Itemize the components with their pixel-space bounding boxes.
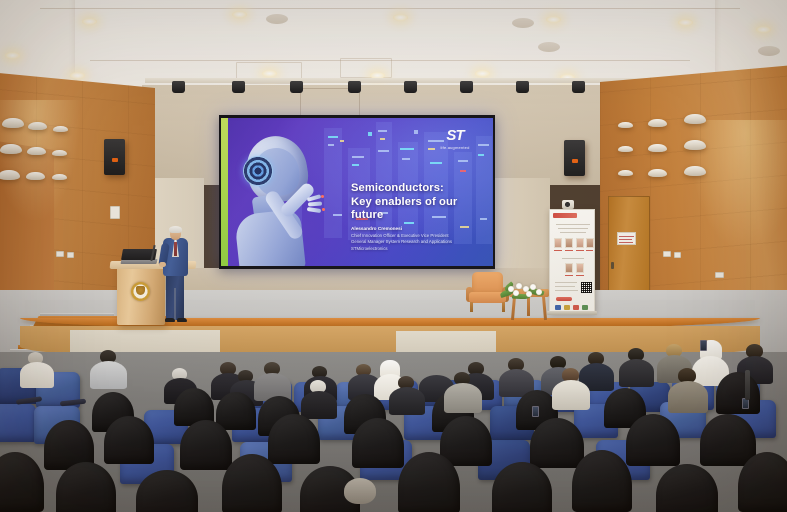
jbl-speaker <box>564 140 585 176</box>
track-spotlight <box>460 81 473 93</box>
slide-speaker-name: Alessandro Cremonesi <box>351 226 486 233</box>
wall-sconce <box>27 147 46 155</box>
wall-sconce <box>684 140 706 150</box>
ceiling-vent <box>538 42 560 52</box>
ceiling-downlight <box>232 11 247 18</box>
banner-speaker-photo <box>565 238 573 248</box>
wall-sconce <box>2 118 24 128</box>
wall-sconce <box>648 119 667 127</box>
track-spotlight <box>572 81 585 93</box>
wall-sconce <box>684 166 706 176</box>
slide-surface: Semiconductors: Key enablers of our futu… <box>221 118 493 266</box>
wall-sconce <box>618 146 633 152</box>
audience-member <box>626 414 680 466</box>
banner-speaker-photo <box>576 238 584 248</box>
banner-sponsor-logo <box>582 305 588 310</box>
lighting-track <box>145 78 645 83</box>
ceiling-downlight <box>5 52 20 59</box>
audience-seat <box>0 404 36 442</box>
ceiling-downlight <box>262 70 277 77</box>
banner-speaker-photo <box>586 238 594 248</box>
audience-member <box>216 392 256 430</box>
slide-speaker-company: STMicroelectronics <box>351 246 486 253</box>
slide-title: Semiconductors: Key enablers of our futu… <box>351 182 491 223</box>
ceiling-downlight <box>678 19 693 26</box>
banner-speaker-photo <box>565 263 573 273</box>
jbl-speaker <box>104 139 125 175</box>
smartphone <box>700 340 707 351</box>
audience-member <box>180 420 232 470</box>
banner-qr-code <box>581 282 592 293</box>
ceiling-downlight <box>393 14 408 21</box>
wall-sconce <box>0 170 20 180</box>
ceiling-downlight <box>70 72 85 79</box>
banner-speaker-photo <box>554 238 562 248</box>
event-rollup-banner <box>549 209 595 313</box>
st-logo: ST life.augmented <box>427 127 483 153</box>
banner-header-bar <box>553 213 577 218</box>
st-logo-mark: ST <box>427 127 483 144</box>
lectern-crest-emblem <box>131 282 150 301</box>
ceiling-vent <box>512 18 534 28</box>
flower-arrangement <box>498 280 548 302</box>
ceiling-downlight <box>475 70 490 77</box>
audience-member <box>268 414 320 464</box>
ceiling-downlight <box>82 18 97 25</box>
ceiling-downlight <box>756 26 771 33</box>
slide-title-line2: Key enablers of our future <box>351 196 491 223</box>
slide-title-line1: Semiconductors: <box>351 182 491 196</box>
banner-speaker-photo <box>576 263 584 273</box>
ceiling-vent <box>266 14 288 24</box>
banner-sponsor-logo <box>555 305 561 310</box>
ceiling-downlight <box>546 16 561 23</box>
door-handle[interactable] <box>611 262 614 269</box>
wall-sconce <box>52 150 67 156</box>
wall-sconce <box>0 144 22 154</box>
smartphone <box>532 406 539 417</box>
wall-sconce <box>648 169 667 177</box>
track-spotlight <box>290 81 303 93</box>
banner-cta-button <box>556 297 572 301</box>
robot-eye-icon <box>243 156 273 186</box>
audience-member <box>716 372 760 414</box>
wall-outlet-plate <box>663 251 671 257</box>
audience-member <box>572 450 632 512</box>
auditorium-photo: Semiconductors: Key enablers of our futu… <box>0 0 787 512</box>
wall-sconce <box>618 170 633 176</box>
banner-sponsor-logo <box>573 305 579 310</box>
track-spotlight <box>172 81 185 93</box>
wall-sconce <box>52 174 67 180</box>
wall-sconce <box>684 114 706 124</box>
aisle-light-post <box>745 370 750 400</box>
wall-outlet-plate <box>674 252 681 258</box>
wall-sconce <box>53 126 68 132</box>
ceiling-vent <box>758 46 780 56</box>
projection-screen: Semiconductors: Key enablers of our futu… <box>219 115 495 269</box>
audience-member <box>104 416 154 464</box>
track-spotlight <box>516 81 529 93</box>
wall-sconce <box>618 122 633 128</box>
st-logo-tagline: life.augmented <box>427 145 483 150</box>
wall-sconce <box>26 172 45 180</box>
wall-sconce <box>648 144 667 152</box>
door-notice-sign <box>617 232 636 245</box>
banner-sponsor-logo <box>564 305 570 310</box>
wall-sconce <box>28 122 47 130</box>
banner-base <box>547 311 597 315</box>
audience-member <box>530 418 584 468</box>
track-spotlight <box>232 81 245 93</box>
slide-robot-illustration <box>231 130 327 266</box>
slide-accent-stripe <box>221 118 228 266</box>
track-spotlight <box>404 81 417 93</box>
wall-intercom <box>110 206 120 219</box>
audience-member <box>352 418 404 468</box>
wall-outlet-plate <box>67 252 74 258</box>
track-spotlight <box>348 81 361 93</box>
audience-member <box>700 414 756 466</box>
video-camera <box>562 200 574 209</box>
slide-speaker-block: Alessandro Cremonesi Chief Innovation Of… <box>351 226 486 252</box>
slide-speaker-role-2: General Manager System Research and Appl… <box>351 239 486 246</box>
wall-outlet-plate <box>715 272 724 278</box>
wall-outlet-plate <box>56 251 64 257</box>
